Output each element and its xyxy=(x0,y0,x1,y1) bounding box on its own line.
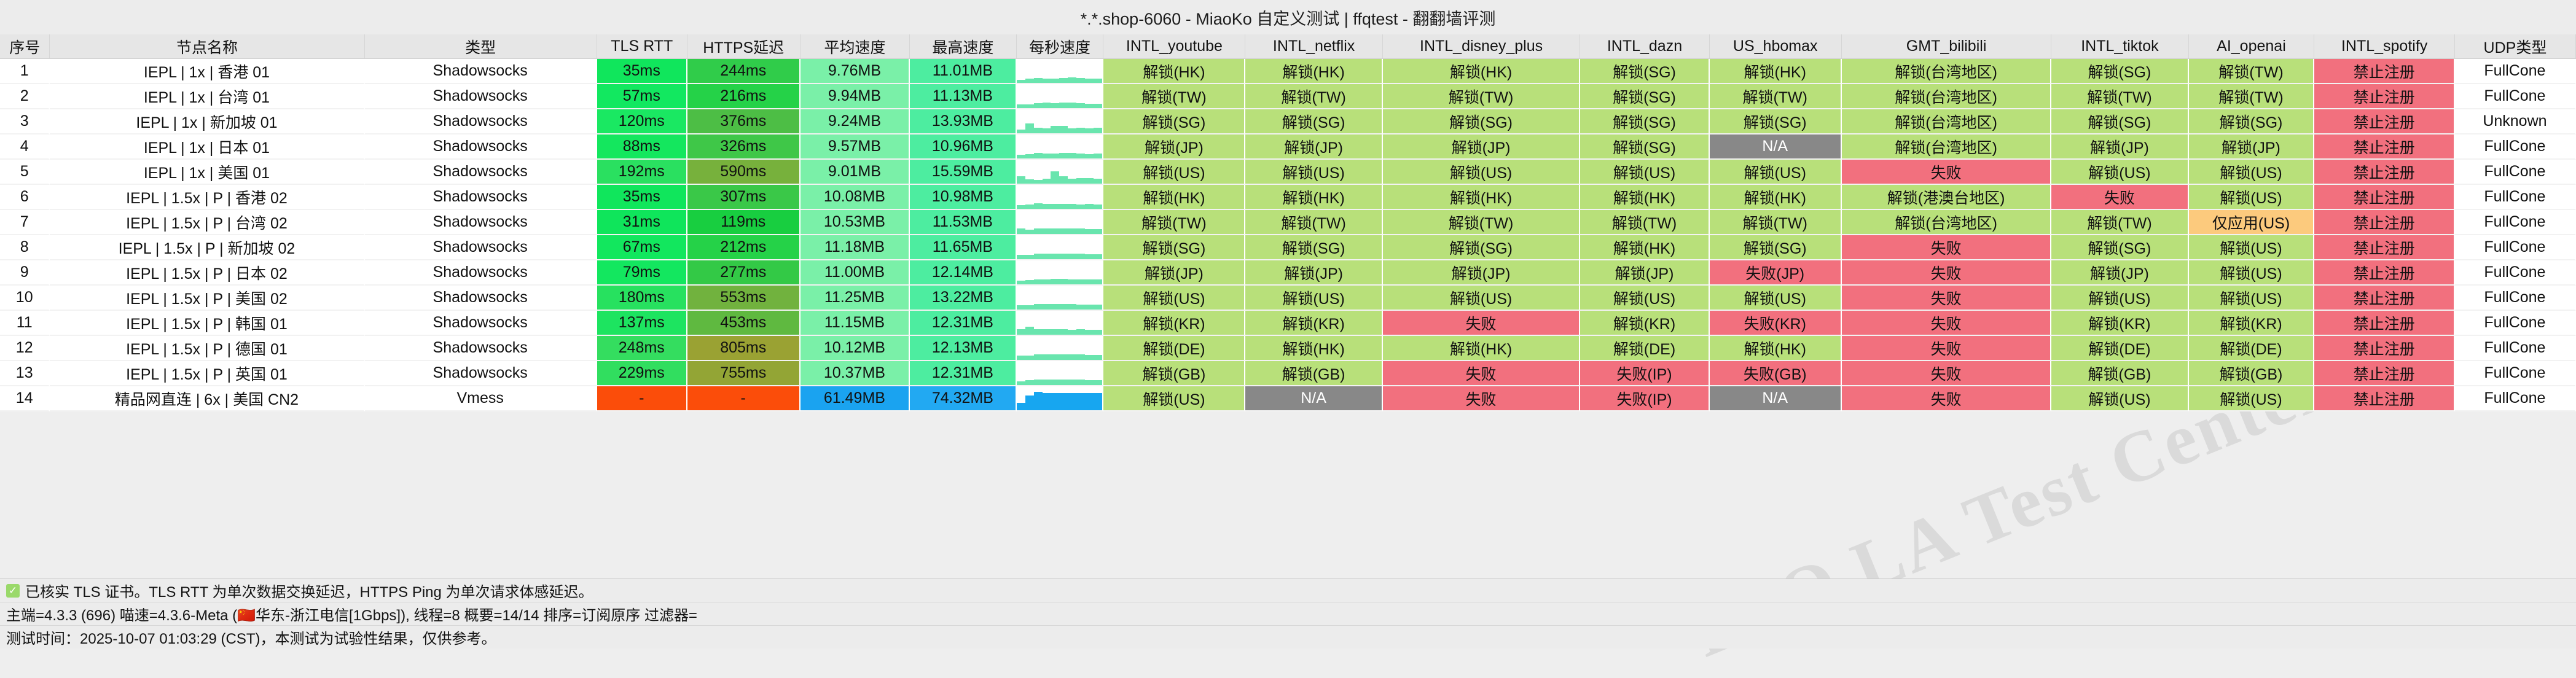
column-header-rtt[interactable]: TLS RTT xyxy=(597,34,687,59)
sparkline-bar xyxy=(1017,176,1025,184)
sparkline-bar xyxy=(1085,154,1094,158)
cell-yt: 解锁(DE) xyxy=(1103,336,1245,361)
sparkline-bar xyxy=(1043,154,1051,158)
cell-dp: 解锁(HK) xyxy=(1383,59,1581,84)
cell-avg: 11.15MB xyxy=(801,311,910,336)
speed-sparkline xyxy=(1017,185,1103,209)
sparkline-bar xyxy=(1094,79,1102,83)
sparkline-bar xyxy=(1034,78,1043,83)
cell-name: IEPL | 1.5x | P | 香港 02 xyxy=(50,185,364,210)
cell-nf: 解锁(GB) xyxy=(1245,361,1382,386)
cell-idx: 8 xyxy=(0,235,50,260)
cell-max: 10.96MB xyxy=(910,134,1016,160)
column-header-avg[interactable]: 平均速度 xyxy=(801,34,910,59)
cell-sp: 禁止注册 xyxy=(2314,361,2454,386)
cell-spark-chart xyxy=(1017,84,1104,109)
cell-hb: 失败(GB) xyxy=(1710,361,1842,386)
cell-spark-chart xyxy=(1017,311,1104,336)
cell-tk: 解锁(US) xyxy=(2051,160,2188,185)
sparkline-bar xyxy=(1094,154,1102,158)
cell-type: Shadowsocks xyxy=(365,210,597,235)
check-icon: ✓ xyxy=(6,584,20,598)
table-row[interactable]: 11IEPL | 1.5x | P | 韩国 01Shadowsocks137m… xyxy=(0,311,2576,336)
cell-bi: 失败 xyxy=(1842,260,2051,286)
sparkline-bar xyxy=(1068,128,1076,133)
cell-nf: 解锁(HK) xyxy=(1245,185,1382,210)
cell-bi: 解锁(台湾地区) xyxy=(1842,210,2051,235)
cell-sp: 禁止注册 xyxy=(2314,84,2454,109)
cell-tk: 解锁(DE) xyxy=(2051,336,2188,361)
cell-spark-chart xyxy=(1017,336,1104,361)
column-header-https[interactable]: HTTPS延迟 xyxy=(687,34,801,59)
cell-dp: 失败 xyxy=(1383,361,1581,386)
cell-oa: 解锁(US) xyxy=(2189,260,2315,286)
cell-idx: 3 xyxy=(0,109,50,134)
sparkline-bar xyxy=(1034,329,1043,335)
column-header-dp[interactable]: INTL_disney_plus xyxy=(1383,34,1581,59)
table-row[interactable]: 10IEPL | 1.5x | P | 美国 02Shadowsocks180m… xyxy=(0,286,2576,311)
cell-udp: FullCone xyxy=(2455,386,2576,411)
sparkline-bar xyxy=(1043,128,1051,133)
sparkline-bar xyxy=(1017,228,1025,234)
sparkline-bar xyxy=(1068,330,1076,335)
cell-name: IEPL | 1x | 美国 01 xyxy=(50,160,364,185)
cell-dz: 解锁(US) xyxy=(1580,160,1709,185)
cell-https: 216ms xyxy=(687,84,801,109)
cell-hb: 解锁(TW) xyxy=(1710,84,1842,109)
sparkline-bar xyxy=(1094,104,1102,108)
sparkline-bar xyxy=(1068,228,1076,234)
sparkline-bar xyxy=(1094,254,1102,259)
cell-spark-chart xyxy=(1017,109,1104,134)
footer-line-client: 主端=4.3.3 (696) 喵速=4.3.6-Meta (🇨🇳华东-浙江电信[… xyxy=(0,602,2576,625)
cell-avg: 11.00MB xyxy=(801,260,910,286)
cell-name: IEPL | 1x | 日本 01 xyxy=(50,134,364,160)
sparkline-bar xyxy=(1094,380,1102,385)
cell-bi: 失败 xyxy=(1842,311,2051,336)
cell-udp: FullCone xyxy=(2455,59,2576,84)
sparkline-bar xyxy=(1043,304,1051,310)
cell-idx: 4 xyxy=(0,134,50,160)
cell-name: IEPL | 1.5x | P | 韩国 01 xyxy=(50,311,364,336)
sparkline-bar xyxy=(1059,380,1068,385)
cell-https: 805ms xyxy=(687,336,801,361)
cell-nf: 解锁(US) xyxy=(1245,160,1382,185)
cell-dz: 解锁(HK) xyxy=(1580,185,1709,210)
cell-max: 74.32MB xyxy=(910,386,1016,411)
sparkline-bar xyxy=(1017,281,1025,284)
sparkline-bar xyxy=(1034,304,1043,310)
cell-yt: 解锁(HK) xyxy=(1103,185,1245,210)
sparkline-bar xyxy=(1068,254,1076,259)
sparkline-bar xyxy=(1034,153,1043,158)
cell-tk: 解锁(SG) xyxy=(2051,109,2188,134)
cell-dz: 解锁(SG) xyxy=(1580,84,1709,109)
cell-yt: 解锁(US) xyxy=(1103,286,1245,311)
cell-dp: 解锁(TW) xyxy=(1383,84,1581,109)
sparkline-bar xyxy=(1094,305,1102,310)
cell-tk: 解锁(JP) xyxy=(2051,134,2188,160)
sparkline-bar xyxy=(1017,356,1025,360)
cell-rtt: 248ms xyxy=(597,336,687,361)
speed-sparkline xyxy=(1017,361,1103,385)
cell-oa: 仅应用(US) xyxy=(2189,210,2315,235)
cell-spark-chart xyxy=(1017,235,1104,260)
page-title: *.*.shop-6060 - MiaoKo 自定义测试 | ffqtest -… xyxy=(1081,6,1496,29)
cell-nf: 解锁(KR) xyxy=(1245,311,1382,336)
cell-avg: 10.12MB xyxy=(801,336,910,361)
column-header-hb[interactable]: US_hbomax xyxy=(1710,34,1842,59)
speed-sparkline xyxy=(1017,235,1103,259)
table-header: 序号节点名称类型TLS RTTHTTPS延迟平均速度最高速度每秒速度INTL_y… xyxy=(0,34,2576,59)
cell-dp: 解锁(HK) xyxy=(1383,336,1581,361)
sparkline-bar xyxy=(1051,171,1059,184)
sparkline-bar xyxy=(1076,279,1085,284)
cell-hb: 解锁(HK) xyxy=(1710,336,1842,361)
cell-https: 307ms xyxy=(687,185,801,210)
table-row[interactable]: 2IEPL | 1x | 台湾 01Shadowsocks57ms216ms9.… xyxy=(0,84,2576,109)
cell-sp: 禁止注册 xyxy=(2314,210,2454,235)
cell-udp: FullCone xyxy=(2455,210,2576,235)
cell-udp: FullCone xyxy=(2455,185,2576,210)
cell-https: 277ms xyxy=(687,260,801,286)
sparkline-bar xyxy=(1068,354,1076,360)
sparkline-bar xyxy=(1085,330,1094,335)
cell-yt: 解锁(TW) xyxy=(1103,210,1245,235)
sparkline-bar xyxy=(1085,254,1094,259)
table-row[interactable]: 6IEPL | 1.5x | P | 香港 02Shadowsocks35ms3… xyxy=(0,185,2576,210)
cell-dp: 解锁(SG) xyxy=(1383,235,1581,260)
cell-nf: 解锁(TW) xyxy=(1245,84,1382,109)
sparkline-bar xyxy=(1043,204,1051,209)
sparkline-bar xyxy=(1051,79,1059,83)
column-header-spark[interactable]: 每秒速度 xyxy=(1017,34,1104,59)
cell-rtt: 35ms xyxy=(597,185,687,210)
table-row[interactable]: 8IEPL | 1.5x | P | 新加坡 02Shadowsocks67ms… xyxy=(0,235,2576,260)
sparkline-bar xyxy=(1076,128,1085,133)
sparkline-bar xyxy=(1076,178,1085,184)
sparkline-bar xyxy=(1025,305,1034,310)
sparkline-bar xyxy=(1059,204,1068,209)
cell-max: 12.13MB xyxy=(910,336,1016,361)
cell-max: 12.31MB xyxy=(910,311,1016,336)
cell-dp: 解锁(US) xyxy=(1383,160,1581,185)
cell-max: 12.14MB xyxy=(910,260,1016,286)
cell-dp: 失败 xyxy=(1383,386,1581,411)
cell-nf: 解锁(JP) xyxy=(1245,134,1382,160)
cell-dz: 解锁(DE) xyxy=(1580,336,1709,361)
cell-https: 244ms xyxy=(687,59,801,84)
sparkline-bar xyxy=(1085,229,1094,234)
sparkline-bar xyxy=(1085,104,1094,108)
sparkline-bar xyxy=(1043,393,1051,410)
column-header-idx[interactable]: 序号 xyxy=(0,34,50,59)
sparkline-bar xyxy=(1051,304,1059,310)
sparkline-bar xyxy=(1059,329,1068,335)
table-row[interactable]: 14精品网直连 | 6x | 美国 CN2Vmess--61.49MB74.32… xyxy=(0,386,2576,411)
cell-hb: 失败(JP) xyxy=(1710,260,1842,286)
cell-avg: 10.37MB xyxy=(801,361,910,386)
speed-sparkline xyxy=(1017,109,1103,133)
sparkline-bar xyxy=(1059,176,1068,184)
column-header-sp[interactable]: INTL_spotify xyxy=(2314,34,2454,59)
footer-line-time: 测试时间：2025-10-07 01:03:29 (CST)，本测试为试验性结果… xyxy=(0,625,2576,649)
sparkline-bar xyxy=(1076,305,1085,310)
cell-sp: 禁止注册 xyxy=(2314,109,2454,134)
cell-rtt: 88ms xyxy=(597,134,687,160)
cell-https: 119ms xyxy=(687,210,801,235)
cell-https: 453ms xyxy=(687,311,801,336)
sparkline-bar xyxy=(1025,380,1034,385)
sparkline-bar xyxy=(1025,230,1034,234)
sparkline-bar xyxy=(1094,128,1102,133)
cell-tk: 解锁(JP) xyxy=(2051,260,2188,286)
cell-oa: 解锁(SG) xyxy=(2189,109,2315,134)
cell-idx: 6 xyxy=(0,185,50,210)
cell-tk: 解锁(TW) xyxy=(2051,210,2188,235)
cell-avg: 11.18MB xyxy=(801,235,910,260)
sparkline-bar xyxy=(1051,380,1059,385)
column-header-type[interactable]: 类型 xyxy=(365,34,597,59)
sparkline-bar xyxy=(1043,179,1051,184)
cell-avg: 9.94MB xyxy=(801,84,910,109)
sparkline-bar xyxy=(1068,153,1076,158)
cell-idx: 14 xyxy=(0,386,50,411)
sparkline-bar xyxy=(1043,103,1051,108)
cell-type: Shadowsocks xyxy=(365,134,597,160)
cell-oa: 解锁(TW) xyxy=(2189,84,2315,109)
cell-rtt: 229ms xyxy=(597,361,687,386)
cell-spark-chart xyxy=(1017,361,1104,386)
cell-type: Shadowsocks xyxy=(365,361,597,386)
cell-yt: 解锁(SG) xyxy=(1103,109,1245,134)
cell-bi: 失败 xyxy=(1842,160,2051,185)
cell-oa: 解锁(US) xyxy=(2189,286,2315,311)
cell-rtt: 31ms xyxy=(597,210,687,235)
sparkline-bar xyxy=(1017,255,1025,259)
sparkline-bar xyxy=(1094,179,1102,184)
column-header-nf[interactable]: INTL_netflix xyxy=(1245,34,1382,59)
sparkline-bar xyxy=(1068,103,1076,108)
cell-rtt: - xyxy=(597,386,687,411)
cell-yt: 解锁(SG) xyxy=(1103,235,1245,260)
cell-yt: 解锁(KR) xyxy=(1103,311,1245,336)
cell-yt: 解锁(TW) xyxy=(1103,84,1245,109)
table-row[interactable]: 4IEPL | 1x | 日本 01Shadowsocks88ms326ms9.… xyxy=(0,134,2576,160)
cell-hb: 解锁(US) xyxy=(1710,160,1842,185)
cell-type: Shadowsocks xyxy=(365,59,597,84)
cell-max: 12.31MB xyxy=(910,361,1016,386)
cell-max: 11.13MB xyxy=(910,84,1016,109)
sparkline-bar xyxy=(1068,77,1076,83)
cell-rtt: 57ms xyxy=(597,84,687,109)
cell-bi: 失败 xyxy=(1842,361,2051,386)
cell-hb: 解锁(US) xyxy=(1710,286,1842,311)
cell-nf: 解锁(HK) xyxy=(1245,336,1382,361)
cell-bi: 失败 xyxy=(1842,235,2051,260)
cell-yt: 解锁(GB) xyxy=(1103,361,1245,386)
sparkline-bar xyxy=(1076,354,1085,360)
sparkline-bar xyxy=(1059,254,1068,259)
cell-idx: 5 xyxy=(0,160,50,185)
table-row[interactable]: 7IEPL | 1.5x | P | 台湾 02Shadowsocks31ms1… xyxy=(0,210,2576,235)
cell-bi: 解锁(台湾地区) xyxy=(1842,134,2051,160)
cell-yt: 解锁(HK) xyxy=(1103,59,1245,84)
cell-dp: 失败 xyxy=(1383,311,1581,336)
sparkline-bar xyxy=(1068,204,1076,209)
cell-oa: 解锁(US) xyxy=(2189,185,2315,210)
cell-nf: N/A xyxy=(1245,386,1382,411)
cell-hb: N/A xyxy=(1710,386,1842,411)
column-header-tk[interactable]: INTL_tiktok xyxy=(2051,34,2188,59)
table-row[interactable]: 13IEPL | 1.5x | P | 英国 01Shadowsocks229m… xyxy=(0,361,2576,386)
sparkline-bar xyxy=(1025,356,1034,360)
cell-bi: 解锁(台湾地区) xyxy=(1842,84,2051,109)
cell-sp: 禁止注册 xyxy=(2314,260,2454,286)
cell-tk: 解锁(KR) xyxy=(2051,311,2188,336)
cell-https: 755ms xyxy=(687,361,801,386)
sparkline-bar xyxy=(1085,380,1094,385)
speedtest-results-table: 序号节点名称类型TLS RTTHTTPS延迟平均速度最高速度每秒速度INTL_y… xyxy=(0,34,2576,411)
cell-avg: 11.25MB xyxy=(801,286,910,311)
column-header-dz[interactable]: INTL_dazn xyxy=(1580,34,1709,59)
speed-sparkline xyxy=(1017,386,1103,410)
cell-dz: 解锁(KR) xyxy=(1580,311,1709,336)
cell-hb: 失败(KR) xyxy=(1710,311,1842,336)
sparkline-bar xyxy=(1017,205,1025,209)
cell-dp: 解锁(US) xyxy=(1383,286,1581,311)
sparkline-bar xyxy=(1085,393,1094,410)
cell-dz: 失败(IP) xyxy=(1580,386,1709,411)
cell-nf: 解锁(TW) xyxy=(1245,210,1382,235)
sparkline-bar xyxy=(1034,228,1043,234)
column-header-name[interactable]: 节点名称 xyxy=(50,34,364,59)
cell-https: 553ms xyxy=(687,286,801,311)
cell-spark-chart xyxy=(1017,210,1104,235)
cell-max: 11.65MB xyxy=(910,235,1016,260)
sparkline-bar xyxy=(1034,128,1043,133)
cell-https: - xyxy=(687,386,801,411)
cell-hb: 解锁(SG) xyxy=(1710,109,1842,134)
cell-tk: 解锁(SG) xyxy=(2051,59,2188,84)
cell-https: 212ms xyxy=(687,235,801,260)
sparkline-bar xyxy=(1085,279,1094,284)
table-row[interactable]: 3IEPL | 1x | 新加坡 01Shadowsocks120ms376ms… xyxy=(0,109,2576,134)
table-row[interactable]: 1IEPL | 1x | 香港 01Shadowsocks35ms244ms9.… xyxy=(0,59,2576,84)
sparkline-bar xyxy=(1085,204,1094,209)
cell-yt: 解锁(US) xyxy=(1103,160,1245,185)
sparkline-bar xyxy=(1094,355,1102,360)
cell-rtt: 137ms xyxy=(597,311,687,336)
sparkline-bar xyxy=(1017,155,1025,158)
sparkline-bar xyxy=(1034,380,1043,385)
cell-dz: 解锁(US) xyxy=(1580,286,1709,311)
sparkline-bar xyxy=(1059,228,1068,234)
cell-dp: 解锁(TW) xyxy=(1383,210,1581,235)
column-header-bi[interactable]: GMT_bilibili xyxy=(1842,34,2051,59)
column-header-max[interactable]: 最高速度 xyxy=(910,34,1016,59)
cell-avg: 9.01MB xyxy=(801,160,910,185)
cell-avg: 9.76MB xyxy=(801,59,910,84)
cell-yt: 解锁(JP) xyxy=(1103,134,1245,160)
cell-sp: 禁止注册 xyxy=(2314,134,2454,160)
cell-bi: 解锁(台湾地区) xyxy=(1842,109,2051,134)
cell-max: 10.98MB xyxy=(910,185,1016,210)
sparkline-bar xyxy=(1076,205,1085,209)
sparkline-bar xyxy=(1051,154,1059,158)
sparkline-bar xyxy=(1025,395,1034,410)
sparkline-bar xyxy=(1017,381,1025,385)
cell-hb: N/A xyxy=(1710,134,1842,160)
cell-oa: 解锁(US) xyxy=(2189,235,2315,260)
cell-tk: 解锁(US) xyxy=(2051,386,2188,411)
table-row[interactable]: 12IEPL | 1.5x | P | 德国 01Shadowsocks248m… xyxy=(0,336,2576,361)
cell-spark-chart xyxy=(1017,185,1104,210)
cell-type: Shadowsocks xyxy=(365,286,597,311)
column-header-oa[interactable]: AI_openai xyxy=(2189,34,2315,59)
sparkline-bar xyxy=(1025,255,1034,259)
sparkline-bar xyxy=(1043,329,1051,335)
sparkline-bar xyxy=(1059,393,1068,410)
sparkline-bar xyxy=(1076,380,1085,385)
cell-dp: 解锁(JP) xyxy=(1383,134,1581,160)
sparkline-bar xyxy=(1059,354,1068,360)
cell-type: Shadowsocks xyxy=(365,235,597,260)
cell-sp: 禁止注册 xyxy=(2314,286,2454,311)
cell-name: IEPL | 1.5x | P | 英国 01 xyxy=(50,361,364,386)
cell-https: 376ms xyxy=(687,109,801,134)
sparkline-bar xyxy=(1017,80,1025,83)
sparkline-bar xyxy=(1051,254,1059,259)
cell-sp: 禁止注册 xyxy=(2314,235,2454,260)
sparkline-bar xyxy=(1043,279,1051,284)
sparkline-bar xyxy=(1025,205,1034,209)
cell-nf: 解锁(HK) xyxy=(1245,59,1382,84)
cell-dp: 解锁(JP) xyxy=(1383,260,1581,286)
sparkline-bar xyxy=(1051,329,1059,335)
cell-oa: 解锁(TW) xyxy=(2189,59,2315,84)
cell-name: IEPL | 1.5x | P | 日本 02 xyxy=(50,260,364,286)
cell-udp: FullCone xyxy=(2455,134,2576,160)
cell-name: IEPL | 1x | 新加坡 01 xyxy=(50,109,364,134)
table-row[interactable]: 9IEPL | 1.5x | P | 日本 02Shadowsocks79ms2… xyxy=(0,260,2576,286)
table-row[interactable]: 5IEPL | 1x | 美国 01Shadowsocks192ms590ms9… xyxy=(0,160,2576,185)
column-header-udp[interactable]: UDP类型 xyxy=(2455,34,2576,59)
cell-type: Shadowsocks xyxy=(365,84,597,109)
cell-dz: 解锁(TW) xyxy=(1580,210,1709,235)
sparkline-bar xyxy=(1043,228,1051,234)
cell-bi: 失败 xyxy=(1842,386,2051,411)
footer-line-tls: ✓ 已核实 TLS 证书。TLS RTT 为单次数据交换延迟，HTTPS Pin… xyxy=(0,579,2576,602)
sparkline-bar xyxy=(1034,254,1043,259)
cell-type: Vmess xyxy=(365,386,597,411)
cell-avg: 61.49MB xyxy=(801,386,910,411)
cell-dz: 解锁(SG) xyxy=(1580,134,1709,160)
sparkline-bar xyxy=(1076,329,1085,335)
sparkline-bar xyxy=(1025,280,1034,284)
cell-oa: 解锁(US) xyxy=(2189,160,2315,185)
cell-avg: 10.08MB xyxy=(801,185,910,210)
cell-idx: 2 xyxy=(0,84,50,109)
cell-bi: 失败 xyxy=(1842,286,2051,311)
sparkline-bar xyxy=(1043,79,1051,83)
column-header-yt[interactable]: INTL_youtube xyxy=(1103,34,1245,59)
speed-sparkline xyxy=(1017,160,1103,184)
sparkline-bar xyxy=(1059,279,1068,284)
sparkline-bar xyxy=(1085,79,1094,83)
sparkline-bar xyxy=(1025,123,1034,133)
table-body: 1IEPL | 1x | 香港 01Shadowsocks35ms244ms9.… xyxy=(0,59,2576,411)
